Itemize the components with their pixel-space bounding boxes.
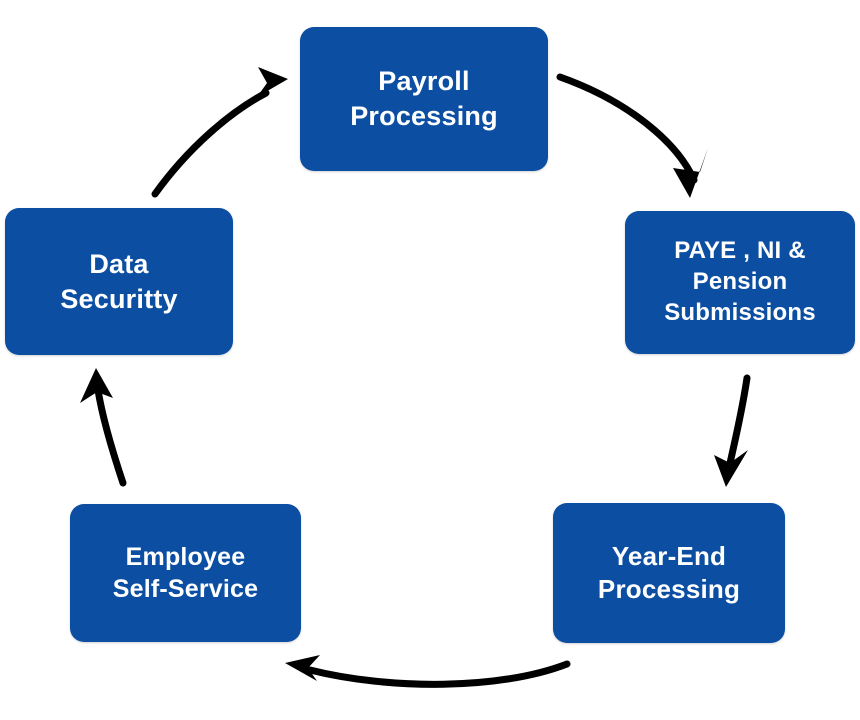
node-employee-self-service[interactable]: Employee Self-Service: [70, 504, 301, 642]
node-data-security[interactable]: Data Securitty: [5, 208, 233, 355]
node-employee-self-service-label: Employee Self-Service: [113, 541, 259, 605]
diagram-canvas: Payroll Processing PAYE , NI & Pension S…: [0, 0, 860, 720]
node-data-security-label: Data Securitty: [60, 247, 177, 316]
node-paye-ni-pension[interactable]: PAYE , NI & Pension Submissions: [625, 211, 855, 354]
node-year-end-processing[interactable]: Year-End Processing: [553, 503, 785, 643]
arrow-employee-to-data-security: [80, 368, 123, 483]
node-paye-ni-pension-label: PAYE , NI & Pension Submissions: [664, 236, 816, 328]
arrow-data-security-to-payroll: [155, 67, 288, 194]
arrow-payroll-to-paye: [560, 77, 708, 198]
node-year-end-processing-label: Year-End Processing: [598, 540, 740, 607]
arrow-paye-to-year-end: [714, 378, 748, 487]
node-payroll-processing[interactable]: Payroll Processing: [300, 27, 548, 171]
arrow-year-end-to-employee: [285, 655, 567, 684]
node-payroll-processing-label: Payroll Processing: [350, 64, 498, 133]
